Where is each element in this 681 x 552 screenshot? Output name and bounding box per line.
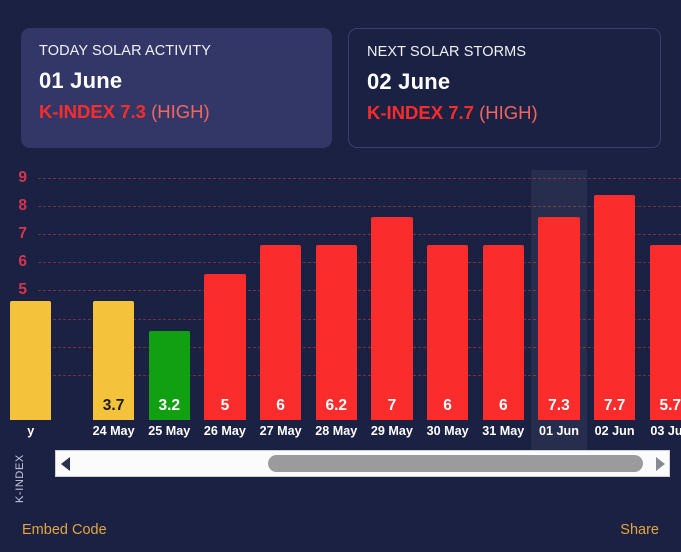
- y-axis-tick: 8: [18, 198, 27, 214]
- card-today-solar-activity[interactable]: TODAY SOLAR ACTIVITY 01 June K-INDEX 7.3…: [21, 28, 332, 148]
- chart-horizontal-scrollbar[interactable]: [55, 450, 670, 477]
- share-link[interactable]: Share: [620, 521, 659, 539]
- x-axis-tick: 03 Jun: [642, 423, 681, 439]
- scroll-right-icon[interactable]: [649, 451, 669, 476]
- chart-bar-value-label: 6: [260, 397, 301, 414]
- chart-bar-value-label: 7.3: [538, 397, 579, 414]
- card-kindex-value: K-INDEX 7.7: [367, 102, 474, 123]
- chart-bar-value-label: 5: [204, 397, 245, 414]
- chart-bar[interactable]: 5: [204, 274, 245, 420]
- card-date: 01 June: [39, 68, 314, 94]
- x-axis-tick: 25 May: [141, 423, 197, 439]
- chart-bar-value-label: 7: [371, 397, 412, 414]
- chart-bar[interactable]: 6: [260, 245, 301, 420]
- card-kindex-value: K-INDEX 7.3: [39, 101, 146, 122]
- y-axis-tick: 7: [18, 226, 27, 242]
- chart-bar-value-label: 3.7: [93, 397, 134, 414]
- y-axis-caption: K-INDEX: [9, 448, 31, 510]
- card-kindex-level: (HIGH): [151, 101, 210, 122]
- chart-plot-area: 3.73.2566.27667.37.75.7: [38, 170, 681, 420]
- scrollbar-thumb[interactable]: [268, 455, 643, 472]
- card-title: TODAY SOLAR ACTIVITY: [39, 43, 314, 60]
- x-axis-tick: 02 Jun: [587, 423, 643, 439]
- footer: Embed Code Share: [22, 518, 659, 542]
- card-kindex-level: (HIGH): [479, 102, 538, 123]
- chart-bar-value-label: 6: [483, 397, 524, 414]
- y-axis-tick: 5: [18, 282, 27, 298]
- x-axis-tick: 29 May: [364, 423, 420, 439]
- chart-bar[interactable]: 7.7: [594, 195, 635, 420]
- x-axis-tick: 31 May: [475, 423, 531, 439]
- x-axis-tick: 26 May: [197, 423, 253, 439]
- chart-bar-value-label: 3.2: [149, 397, 190, 414]
- x-axis-tick: 28 May: [308, 423, 364, 439]
- x-axis-tick: y: [3, 423, 59, 439]
- x-axis-tick: 01 Jun: [531, 423, 587, 439]
- y-axis-tick: 9: [18, 170, 27, 186]
- chart-bar-value-label: 5.7: [650, 397, 681, 414]
- k-index-bar-chart: 987654321 3.73.2566.27667.37.75.7 y24 Ma…: [0, 170, 681, 440]
- chart-bar[interactable]: 5.7: [650, 245, 681, 420]
- card-date: 02 June: [367, 69, 642, 95]
- summary-cards: TODAY SOLAR ACTIVITY 01 June K-INDEX 7.3…: [21, 28, 661, 148]
- chart-bar-value-label: 6.2: [316, 397, 357, 414]
- card-kindex: K-INDEX 7.7 (HIGH): [367, 102, 642, 124]
- chart-bar[interactable]: 6: [427, 245, 468, 420]
- chart-bars: 3.73.2566.27667.37.75.7: [38, 170, 681, 420]
- y-axis-tick: 6: [18, 254, 27, 270]
- chart-bar-value-label: 6: [427, 397, 468, 414]
- scroll-left-icon[interactable]: [56, 451, 76, 476]
- x-axis-tick: 27 May: [253, 423, 309, 439]
- chart-bar[interactable]: 6: [483, 245, 524, 420]
- chart-bar[interactable]: 7.3: [538, 217, 579, 420]
- chart-bar[interactable]: 3.2: [149, 331, 190, 420]
- card-next-solar-storms[interactable]: NEXT SOLAR STORMS 02 June K-INDEX 7.7 (H…: [348, 28, 661, 148]
- chart-bar[interactable]: 7: [371, 217, 412, 420]
- embed-code-link[interactable]: Embed Code: [22, 521, 107, 539]
- card-kindex: K-INDEX 7.3 (HIGH): [39, 101, 314, 123]
- card-title: NEXT SOLAR STORMS: [367, 44, 642, 61]
- chart-bar[interactable]: 3.7: [93, 301, 134, 420]
- x-axis-tick: 30 May: [420, 423, 476, 439]
- scrollbar-track[interactable]: [76, 451, 649, 476]
- x-axis-tick: 24 May: [86, 423, 142, 439]
- chart-bar-value-label: 7.7: [594, 397, 635, 414]
- chart-x-axis: y24 May25 May26 May27 May28 May29 May30 …: [38, 420, 681, 446]
- chart-bar[interactable]: [10, 301, 51, 420]
- chart-bar[interactable]: 6.2: [316, 245, 357, 420]
